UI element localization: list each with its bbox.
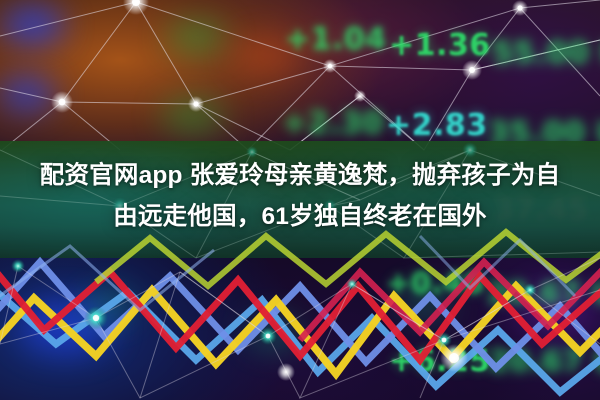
headline-line-1: 配资官网app 张爱玲母亲黄逸梵，抛弃孩子为自 (16, 155, 584, 196)
ticker-value: +2.30 (282, 106, 384, 141)
ticker-value: 55.00 U (492, 36, 600, 71)
ticker-value: +6.25 (389, 344, 491, 379)
ticker-value: +1.36 (389, 28, 491, 63)
headline-text: 配资官网app 张爱玲母亲黄逸梵，抛弃孩子为自 由远走他国，61岁独自终老在国外 (0, 155, 600, 237)
ticker-value: +1.04 (285, 22, 387, 57)
headline-line-2: 由远走他国，61岁独自终老在国外 (16, 196, 584, 237)
ticker-value: 20.67 U (489, 344, 600, 378)
ticker-value: +2.83 (386, 108, 488, 143)
ticker-value: +0.46 (386, 266, 484, 300)
ticker-value: 20.67 U (487, 276, 600, 310)
image-canvas: +1.04+1.3655.00 U+2.30+2.8335.00 U头条37.4… (0, 0, 600, 400)
